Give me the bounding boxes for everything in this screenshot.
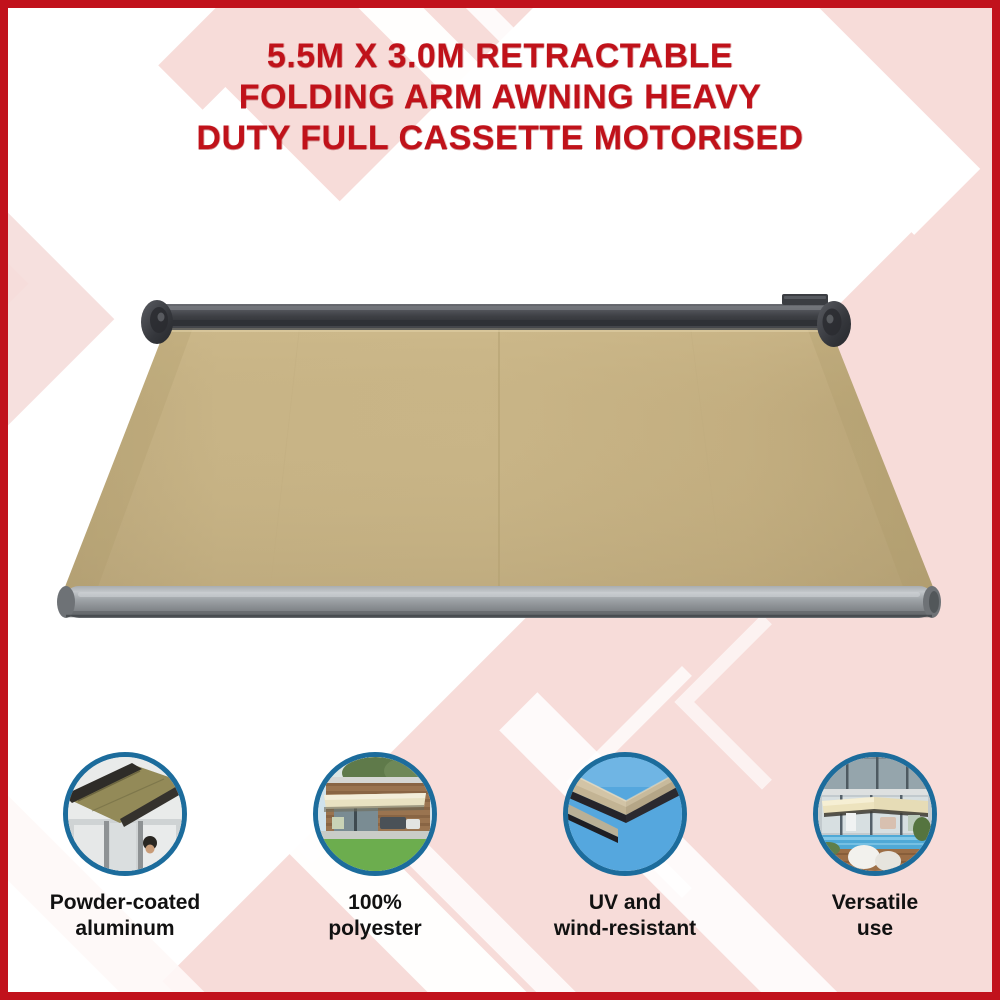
awning-fabric [63, 322, 935, 592]
feature-uv-and-wind-resistant: UV and wind-resistant [510, 752, 740, 942]
front-bar-cap-left [57, 586, 75, 618]
feature-label-100-polyester: 100% polyester [260, 890, 490, 942]
title-line-3: DUTY FULL CASSETTE MOTORISED [0, 118, 1000, 159]
product-image-awning [0, 270, 1000, 670]
feature-powder-coated-aluminum: Powder-coated aluminum [10, 752, 240, 942]
feature-versatile-use: Versatile use [760, 752, 990, 942]
cassette-end-cap-right [817, 301, 851, 347]
awning-front-bar [57, 586, 941, 618]
title-line-1: 5.5M x 3.0M RETRACTABLE [0, 36, 1000, 77]
feature-label-uv-and-wind-resistant: UV and wind-resistant [510, 890, 740, 942]
feature-image-uv-and-wind-resistant [563, 752, 687, 876]
feature-label-powder-coated-aluminum: Powder-coated aluminum [10, 890, 240, 942]
feature-100-polyester: 100% polyester [260, 752, 490, 942]
feature-label-versatile-use: Versatile use [760, 890, 990, 942]
feature-image-100-polyester [313, 752, 437, 876]
feature-label-line2: aluminum [10, 916, 240, 942]
feature-label-line2: use [760, 916, 990, 942]
feature-image-versatile-use [813, 752, 937, 876]
awning-cassette-bar [150, 294, 840, 330]
page-title: 5.5M x 3.0M RETRACTABLE FOLDING ARM AWNI… [0, 36, 1000, 159]
feature-list: Powder-coated aluminum [0, 752, 1000, 982]
feature-label-line2: polyester [260, 916, 490, 942]
feature-label-line2: wind-resistant [510, 916, 740, 942]
cassette-end-cap-left [141, 300, 173, 344]
feature-image-powder-coated-aluminum [63, 752, 187, 876]
feature-label-line1: Powder-coated [50, 891, 201, 914]
title-line-2: FOLDING ARM AWNING HEAVY [0, 77, 1000, 118]
product-marketing-image: 5.5M x 3.0M RETRACTABLE FOLDING ARM AWNI… [0, 0, 1000, 1000]
feature-label-line1: UV and [589, 891, 661, 914]
feature-label-line1: 100% [348, 891, 402, 914]
mounting-bracket [782, 294, 828, 305]
feature-label-line1: Versatile [832, 891, 918, 914]
